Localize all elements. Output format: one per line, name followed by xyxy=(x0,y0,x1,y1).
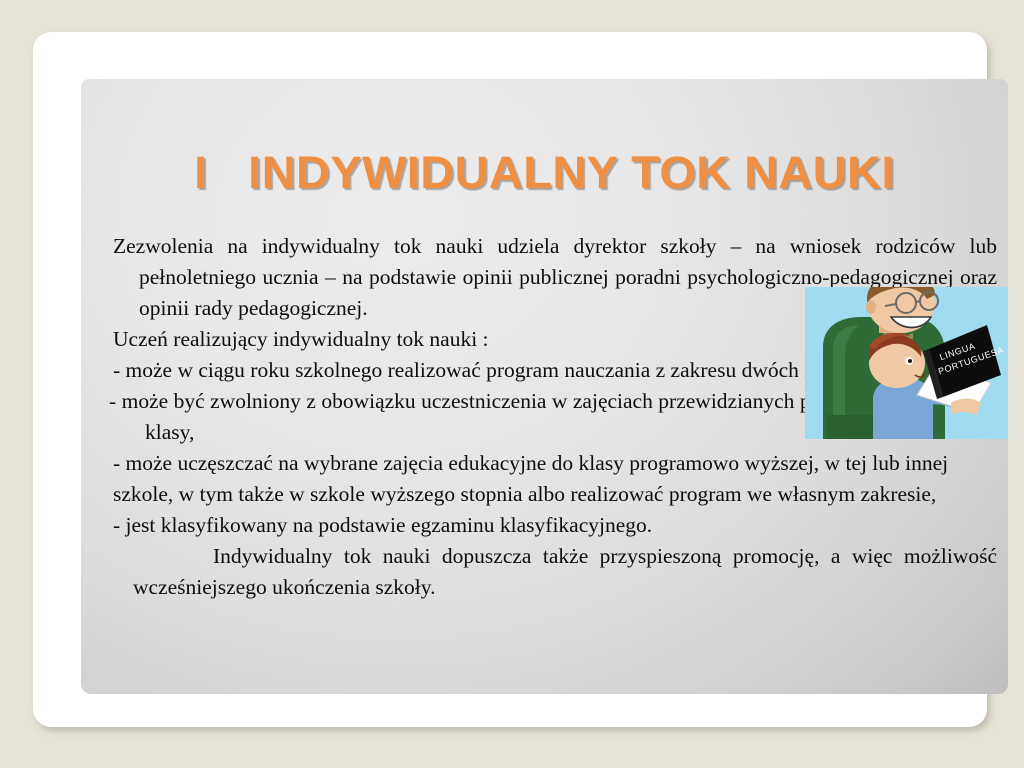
bullet-item-4: - jest klasyfikowany na podstawie egzami… xyxy=(97,510,997,541)
slide-root: I INDYWIDUALNY TOK NAUKI Zezwolenia na i… xyxy=(0,0,1024,768)
slide-content-panel: I INDYWIDUALNY TOK NAUKI Zezwolenia na i… xyxy=(81,79,1008,694)
teacher-and-child-reading-book-icon: LINGUA PORTUGUESA xyxy=(805,287,1008,439)
paragraph-closing: Indywidualny tok nauki dopuszcza także p… xyxy=(97,541,997,603)
slide-card: I INDYWIDUALNY TOK NAUKI Zezwolenia na i… xyxy=(33,32,987,727)
bullet-item-3: - może uczęszczać na wybrane zajęcia edu… xyxy=(97,448,997,510)
slide-title: I INDYWIDUALNY TOK NAUKI xyxy=(81,147,1008,199)
illustration-teacher-and-child: LINGUA PORTUGUESA xyxy=(805,287,1008,439)
